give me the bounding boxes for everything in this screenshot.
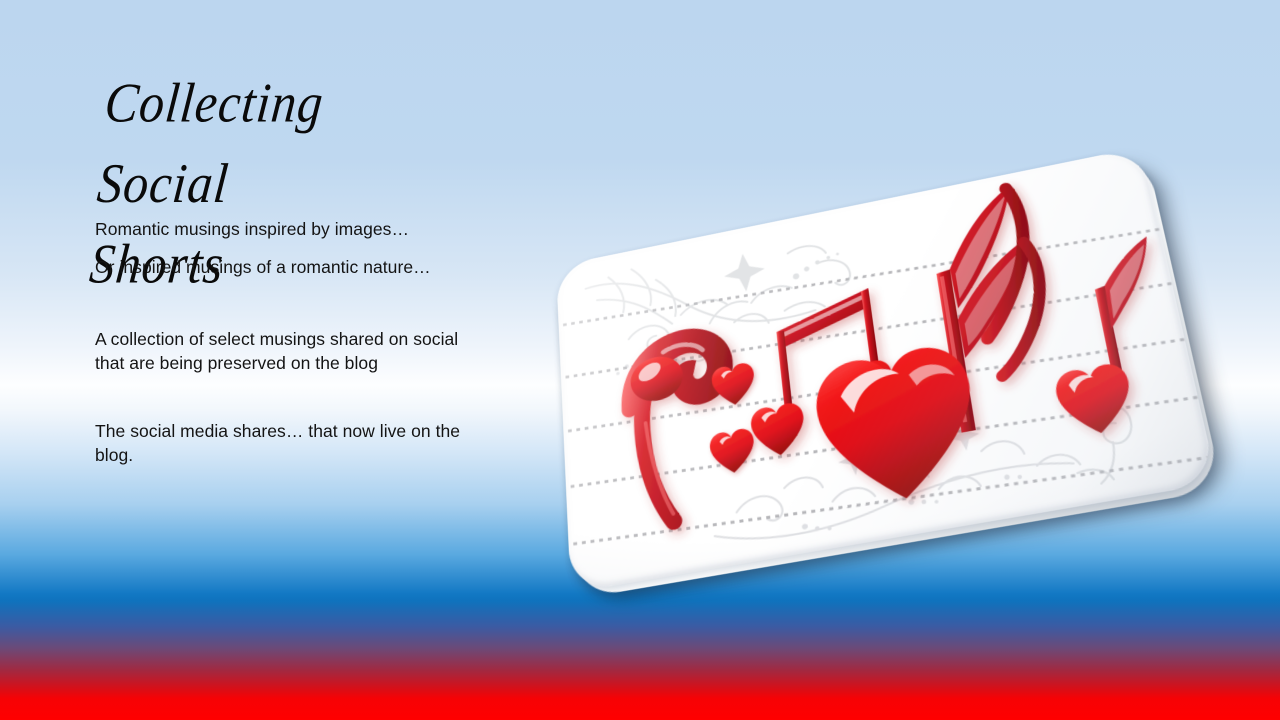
music-card-image (512, 168, 1212, 578)
sixteenth-note-icon (938, 184, 1055, 383)
bass-clef-icon (626, 330, 739, 528)
heart-notehead-small-2 (709, 427, 756, 477)
card-face (556, 147, 1218, 593)
music-card (556, 147, 1218, 593)
subtitle-line-2: Or inspired musings of a romantic nature… (95, 256, 431, 279)
presentation-slide: Collecting Social Shorts Romantic musing… (0, 0, 1280, 720)
description-paragraph-2: The social media shares… that now live o… (95, 420, 480, 467)
beamed-eighth-notes-icon (740, 286, 900, 460)
music-notes-graphics (556, 147, 1218, 593)
text-column: Collecting Social Shorts Romantic musing… (95, 62, 515, 278)
small-heart-note-icon (1031, 236, 1187, 439)
description-paragraph-1: A collection of select musings shared on… (95, 328, 485, 375)
subtitle-line-1: Romantic musings inspired by images… (95, 218, 409, 241)
